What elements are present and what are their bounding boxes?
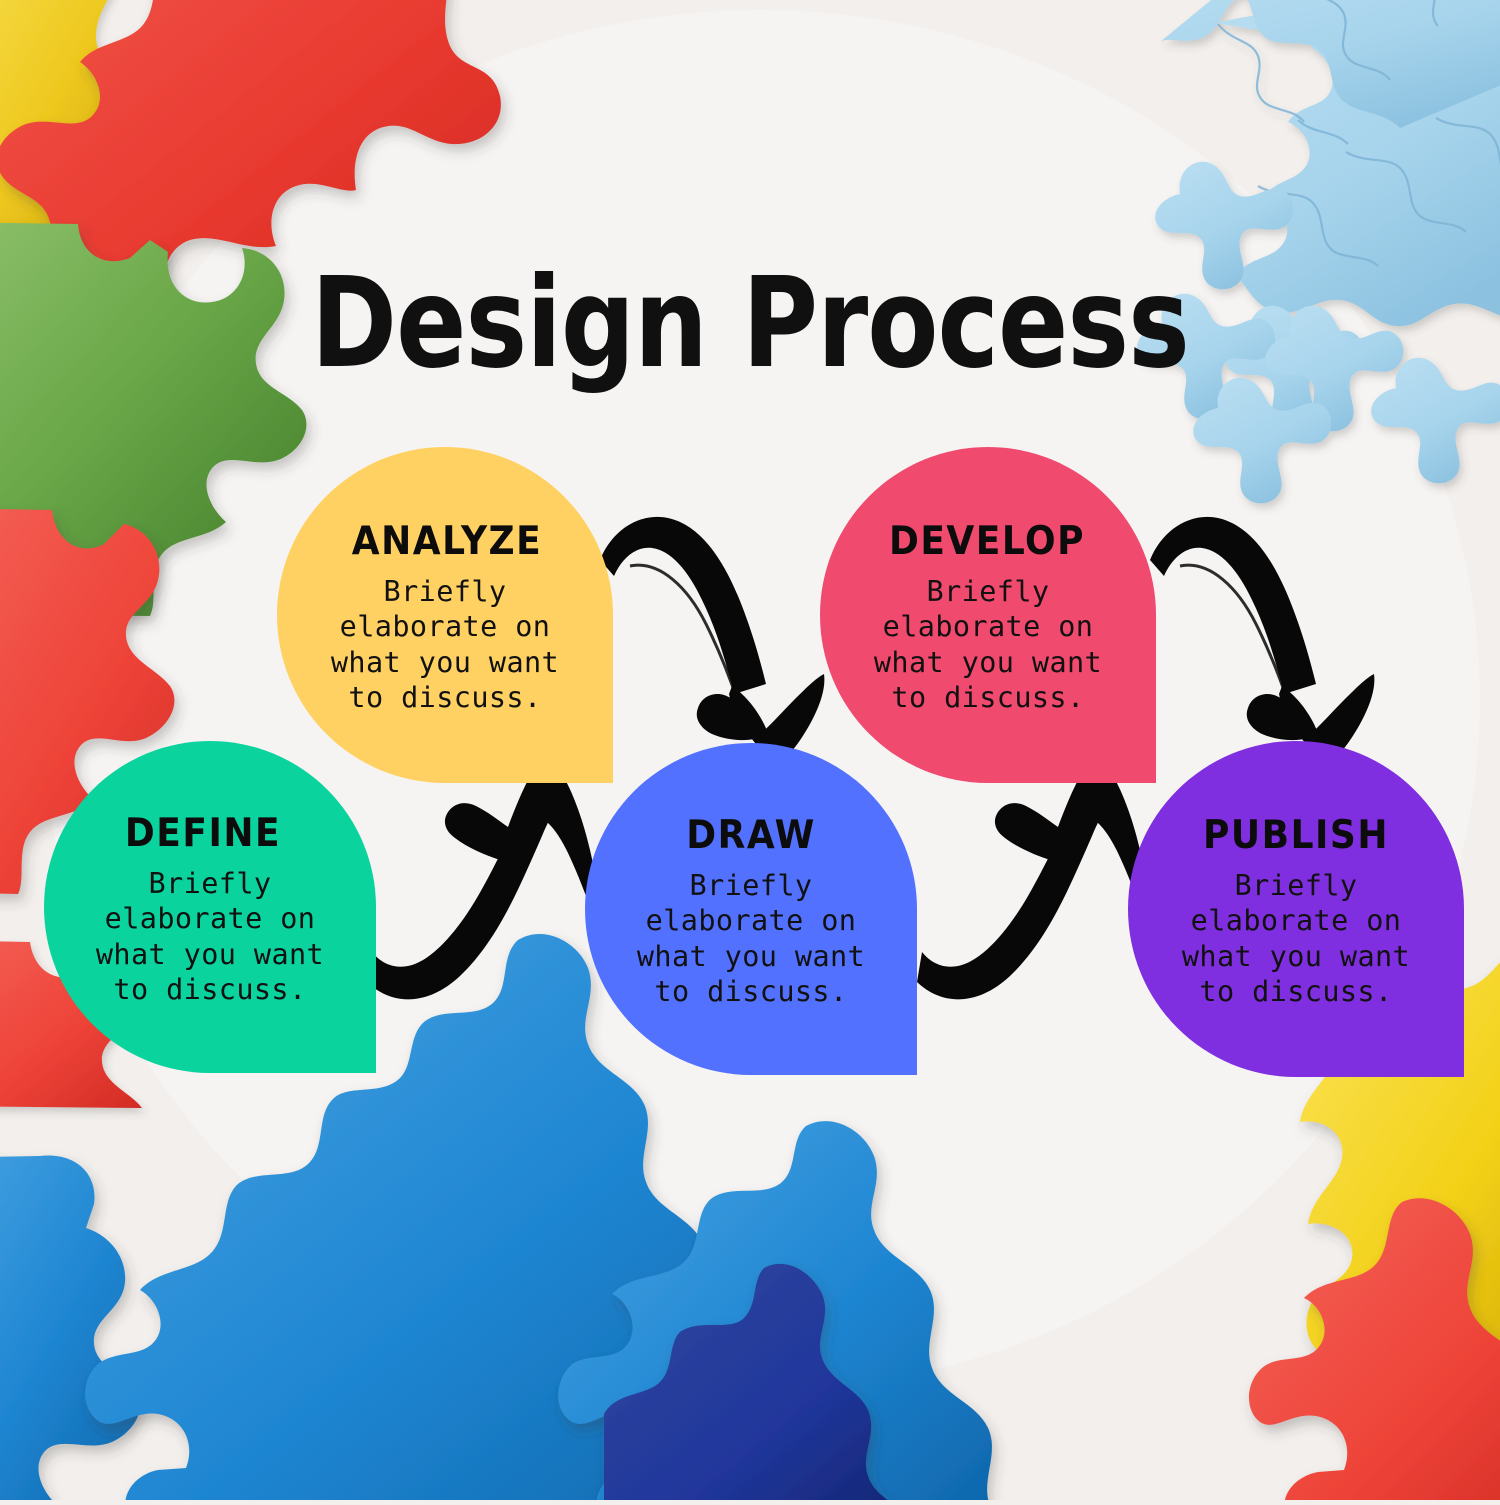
- arrow-draw-to-develop: [917, 759, 1148, 1000]
- step-bubble-publish[interactable]: PUBLISH Briefly elaborate on what you wa…: [1128, 741, 1464, 1077]
- step-bubble-analyze[interactable]: ANALYZE Briefly elaborate on what you wa…: [277, 447, 613, 783]
- step-label-define: DEFINE: [125, 811, 281, 856]
- step-body-analyze: Briefly elaborate on what you want to di…: [331, 574, 559, 714]
- arrow-develop-to-publish: [1150, 517, 1374, 771]
- step-label-draw: DRAW: [686, 813, 816, 858]
- step-body-define: Briefly elaborate on what you want to di…: [96, 866, 324, 1006]
- infographic-canvas: Design Process: [0, 0, 1500, 1500]
- step-body-develop: Briefly elaborate on what you want to di…: [874, 574, 1102, 714]
- step-bubble-draw[interactable]: DRAW Briefly elaborate on what you want …: [585, 743, 917, 1075]
- step-bubble-develop[interactable]: DEVELOP Briefly elaborate on what you wa…: [820, 447, 1156, 783]
- step-bubble-define[interactable]: DEFINE Briefly elaborate on what you wan…: [44, 741, 376, 1073]
- step-body-publish: Briefly elaborate on what you want to di…: [1182, 868, 1410, 1008]
- step-label-publish: PUBLISH: [1203, 813, 1389, 858]
- step-body-draw: Briefly elaborate on what you want to di…: [637, 868, 865, 1008]
- arrow-define-to-analyze: [367, 759, 598, 1000]
- step-label-develop: DEVELOP: [889, 519, 1085, 564]
- arrow-analyze-to-draw: [600, 517, 824, 771]
- step-label-analyze: ANALYZE: [352, 519, 542, 564]
